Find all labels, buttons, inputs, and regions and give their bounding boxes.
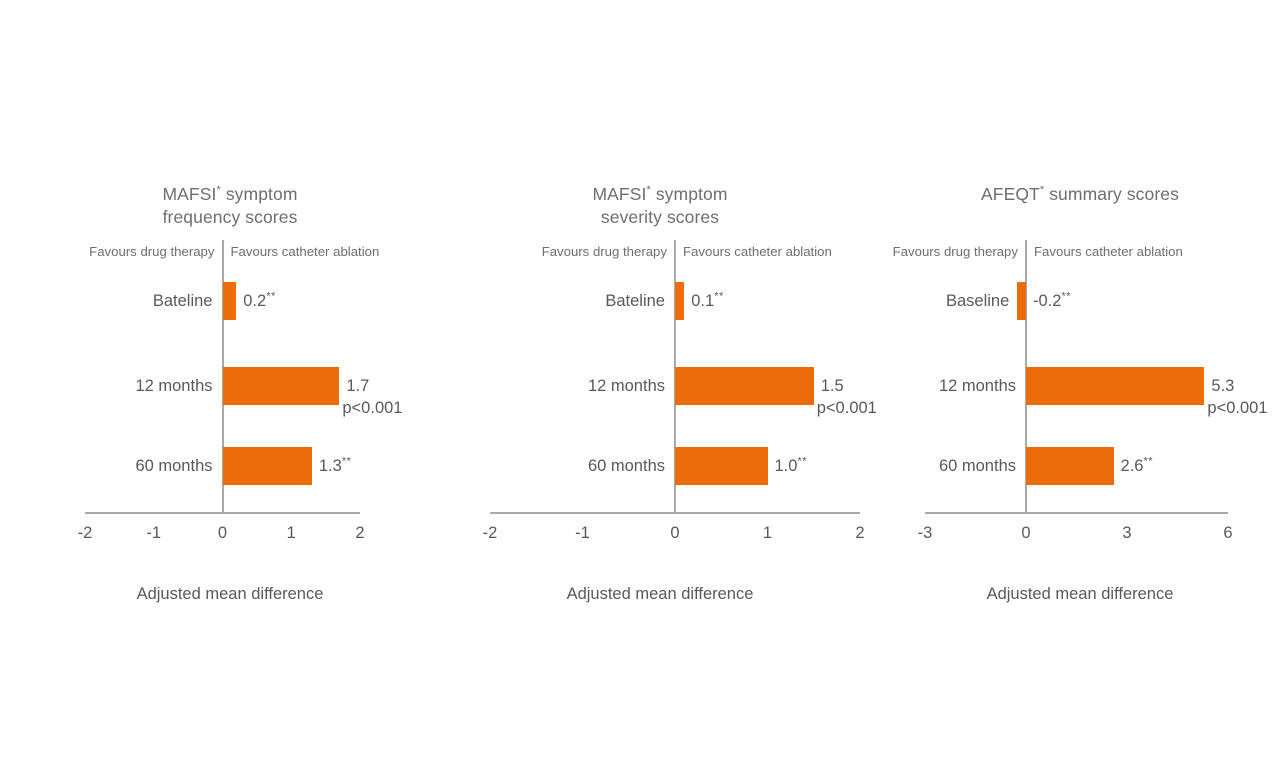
value-label: 1.0** [775,457,808,475]
panel-title-rest: summary scores [1044,184,1179,204]
plot-area: Baseline-0.2**12 months5.3p<0.00160 mont… [880,262,1280,512]
x-tick-label: 0 [655,524,695,542]
significance-marker: ** [714,291,724,303]
p-value-label: p<0.001 [1207,399,1267,417]
favours-catheter-ablation-label: Favours catheter ablation [683,242,832,262]
significance-marker: ** [342,456,352,468]
value-label: 1.3** [319,457,352,475]
bar [675,367,814,405]
bar [1017,282,1026,320]
x-tick-label: -3 [905,524,945,542]
significance-marker: ** [1143,456,1153,468]
category-label: Bateline [460,292,665,310]
chart-panel-mafsi-severity: MAFSI* symptom severity scores Favours d… [460,160,860,620]
category-label: 12 months [880,377,1016,395]
plot-area: Bateline0.1**12 months1.5p<0.00160 month… [460,262,860,512]
value-label: 0.2** [243,292,276,310]
category-label: 12 months [460,377,665,395]
panel-title-main: MAFSI [162,184,216,204]
chart-panel-mafsi-frequency: MAFSI* symptom frequency scores Favours … [30,160,430,620]
x-tick-label: -1 [134,524,174,542]
panel-title: MAFSI* symptom severity scores [460,160,860,229]
category-label: 12 months [30,377,213,395]
x-axis-line [490,512,860,514]
bar [223,282,237,320]
favours-annotation-row: Favours drug therapy Favours catheter ab… [30,242,430,262]
panel-title: MAFSI* symptom frequency scores [30,160,430,229]
plot-area: Bateline0.2**12 months1.7p<0.00160 month… [30,262,430,512]
category-label: Bateline [30,292,213,310]
favours-drug-therapy-label: Favours drug therapy [460,242,667,262]
x-axis-line [925,512,1228,514]
favours-annotation-row: Favours drug therapy Favours catheter ab… [460,242,860,262]
x-tick-label: 2 [340,524,380,542]
favours-catheter-ablation-label: Favours catheter ablation [1034,242,1183,262]
x-axis-title: Adjusted mean difference [30,585,430,604]
x-tick-label: 1 [748,524,788,542]
bar [223,367,340,405]
category-label: 60 months [30,457,213,475]
favours-annotation-row: Favours drug therapy Favours catheter ab… [880,242,1280,262]
panel-title: AFEQT* summary scores [880,160,1280,206]
x-tick-label: 0 [1006,524,1046,542]
bar [223,447,312,485]
bar [1026,367,1204,405]
panel-title-main: AFEQT [981,184,1040,204]
x-tick-label: 6 [1208,524,1248,542]
value-label: 0.1** [691,292,724,310]
x-tick-label: -1 [563,524,603,542]
bar [1026,447,1114,485]
significance-marker: ** [1061,291,1071,303]
favours-catheter-ablation-label: Favours catheter ablation [231,242,380,262]
p-value-label: p<0.001 [342,399,402,417]
p-value-label: p<0.001 [817,399,877,417]
bar [675,447,768,485]
x-tick-label: -2 [470,524,510,542]
x-axis-line [85,512,360,514]
value-label: 2.6** [1121,457,1154,475]
value-label: 1.5 [821,377,844,395]
x-axis-title: Adjusted mean difference [460,585,860,604]
category-label: 60 months [460,457,665,475]
category-label: 60 months [880,457,1016,475]
x-tick-label: 1 [271,524,311,542]
bar [675,282,684,320]
x-tick-label: 2 [840,524,880,542]
x-axis-title: Adjusted mean difference [880,585,1280,604]
x-tick-label: 3 [1107,524,1147,542]
chart-panel-afeqt-summary: AFEQT* summary scores Favours drug thera… [880,160,1280,620]
x-tick-label: -2 [65,524,105,542]
panel-title-main: MAFSI [592,184,646,204]
x-tick-label: 0 [203,524,243,542]
value-label: 1.7 [346,377,369,395]
favours-drug-therapy-label: Favours drug therapy [880,242,1018,262]
significance-marker: ** [266,291,276,303]
value-label: 5.3 [1211,377,1234,395]
favours-drug-therapy-label: Favours drug therapy [30,242,215,262]
category-label: Baseline [880,292,1009,310]
figure-canvas: MAFSI* symptom frequency scores Favours … [0,0,1283,769]
significance-marker: ** [797,456,807,468]
value-label: -0.2** [1033,292,1071,310]
